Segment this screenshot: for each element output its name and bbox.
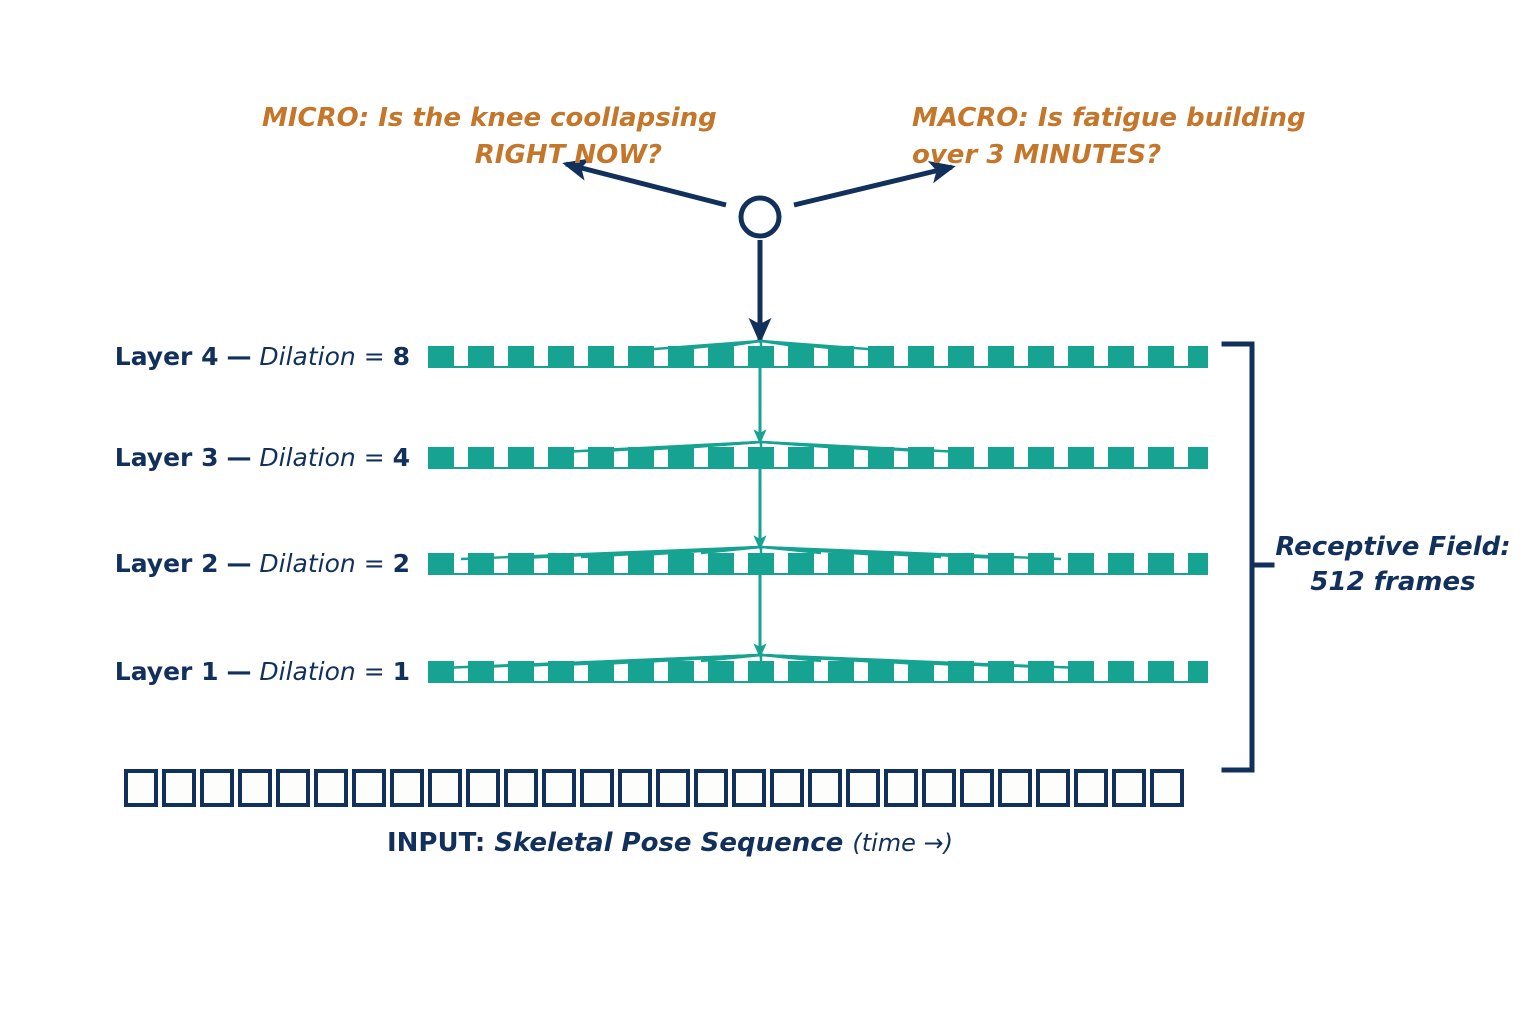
layer-2-dilation-value: 2 [393, 549, 410, 578]
layer-1-name: Layer 1 [115, 657, 219, 686]
layer-label-4: Layer 4 — Dilation = 8 [110, 344, 410, 369]
receptive-field-label: Receptive Field: 512 frames [1268, 530, 1518, 601]
layer-3-dash: — [226, 443, 251, 472]
layer-1-dash: — [226, 657, 251, 686]
layer-3-dilation-value: 4 [393, 443, 410, 472]
receptive-field-line2: 512 frames [1268, 565, 1518, 600]
output-node-circle [741, 198, 779, 236]
layer-4-dilation-value: 8 [393, 342, 410, 371]
receptive-field-bracket [1224, 344, 1272, 770]
layer-4-name: Layer 4 [115, 342, 219, 371]
diagram-canvas: MICRO: Is the knee coollapsing RIGHT NOW… [0, 0, 1536, 1024]
layer-4-dilation-label: Dilation = [259, 342, 392, 371]
callout-macro-line1: MACRO: Is fatigue building [912, 100, 1312, 137]
receptive-field-line1: Receptive Field: [1268, 530, 1518, 565]
callout-macro: MACRO: Is fatigue building over 3 MINUTE… [912, 100, 1312, 174]
callout-macro-line2: over 3 MINUTES? [912, 137, 1312, 174]
layer-label-1: Layer 1 — Dilation = 1 [110, 659, 410, 684]
layer-4-blocks [428, 346, 1208, 368]
layer-3-group [428, 442, 1208, 548]
callout-micro-line2: RIGHT NOW? [262, 137, 662, 174]
layer-3-name: Layer 3 [115, 443, 219, 472]
layer-4-group [428, 341, 1208, 442]
callout-micro-line1: MICRO: Is the knee coollapsing [262, 100, 662, 137]
input-caption: INPUT: Skeletal Pose Sequence (time →) [0, 828, 1340, 858]
layer-label-2: Layer 2 — Dilation = 2 [110, 551, 410, 576]
layer-2-name: Layer 2 [115, 549, 219, 578]
layer-2-dilation-label: Dilation = [259, 549, 392, 578]
input-caption-time: (time →) [852, 829, 953, 857]
layer-1-dilation-label: Dilation = [259, 657, 392, 686]
layer-2-group [428, 547, 1208, 656]
layer-2-dash: — [226, 549, 251, 578]
input-caption-prefix: INPUT: [387, 828, 485, 858]
layer-label-3: Layer 3 — Dilation = 4 [110, 445, 410, 470]
callout-micro: MICRO: Is the knee coollapsing RIGHT NOW… [262, 100, 662, 174]
input-caption-name: Skeletal Pose Sequence [485, 828, 852, 858]
layer-1-dilation-value: 1 [393, 657, 410, 686]
input-row-blocks [126, 771, 1182, 805]
layer-3-blocks [428, 447, 1208, 469]
layer-4-dash: — [226, 342, 251, 371]
layer-1-group [428, 655, 1208, 683]
layer-3-dilation-label: Dilation = [259, 443, 392, 472]
